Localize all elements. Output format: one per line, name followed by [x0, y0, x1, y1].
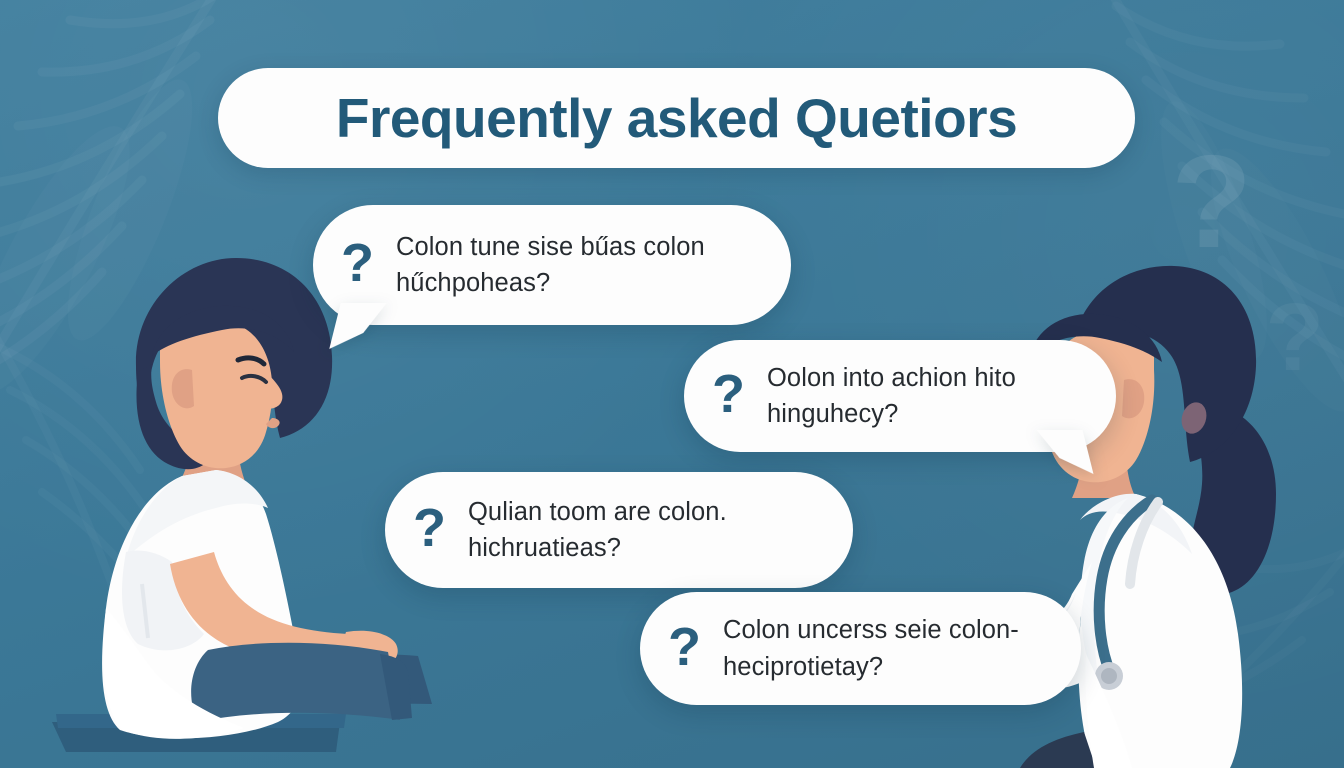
faq-bubble-1[interactable]: ? Colon tune sise bűas colon hűchpoheas?	[313, 205, 791, 325]
faq-bubble-1-line2: hűchpoheas?	[396, 269, 550, 297]
faq-bubble-4[interactable]: ? Colon uncerss seie colon- heciprotieta…	[640, 592, 1081, 705]
question-mark-icon: ?	[712, 367, 745, 421]
faq-bubble-2-line1: Oolon into achion hito	[767, 364, 1016, 392]
faq-bubble-4-line1: Colon uncerss seie colon-	[723, 616, 1019, 644]
illustration-canvas: ? ?	[0, 0, 1344, 768]
faq-bubble-3-line1: Qulian toom are colon.	[468, 498, 727, 526]
faq-bubble-2-text: Oolon into achion hito hinguhecy?	[767, 360, 1016, 432]
faq-bubble-3-line2: hichruatieas?	[468, 534, 621, 562]
faq-bubble-1-line1: Colon tune sise bűas colon	[396, 233, 705, 261]
page-title: Frequently asked Quetiors	[336, 86, 1017, 150]
faq-bubble-4-line2: heciprotietay?	[723, 653, 883, 681]
faq-bubble-3-text: Qulian toom are colon. hichruatieas?	[468, 494, 727, 566]
faq-bubble-2[interactable]: ? Oolon into achion hito hinguhecy?	[684, 340, 1116, 452]
bubble-tail	[1037, 430, 1094, 474]
background-question-mark-icon: ?	[1171, 136, 1252, 268]
faq-bubble-4-text: Colon uncerss seie colon- heciprotietay?	[723, 612, 1019, 684]
question-mark-icon: ?	[413, 501, 446, 555]
faq-bubble-2-line2: hinguhecy?	[767, 400, 898, 428]
question-mark-icon: ?	[668, 620, 701, 674]
faq-bubble-3[interactable]: ? Qulian toom are colon. hichruatieas?	[385, 472, 853, 588]
page-title-pill: Frequently asked Quetiors	[218, 68, 1135, 168]
question-mark-icon: ?	[341, 236, 374, 290]
faq-bubble-1-text: Colon tune sise bűas colon hűchpoheas?	[396, 229, 705, 301]
